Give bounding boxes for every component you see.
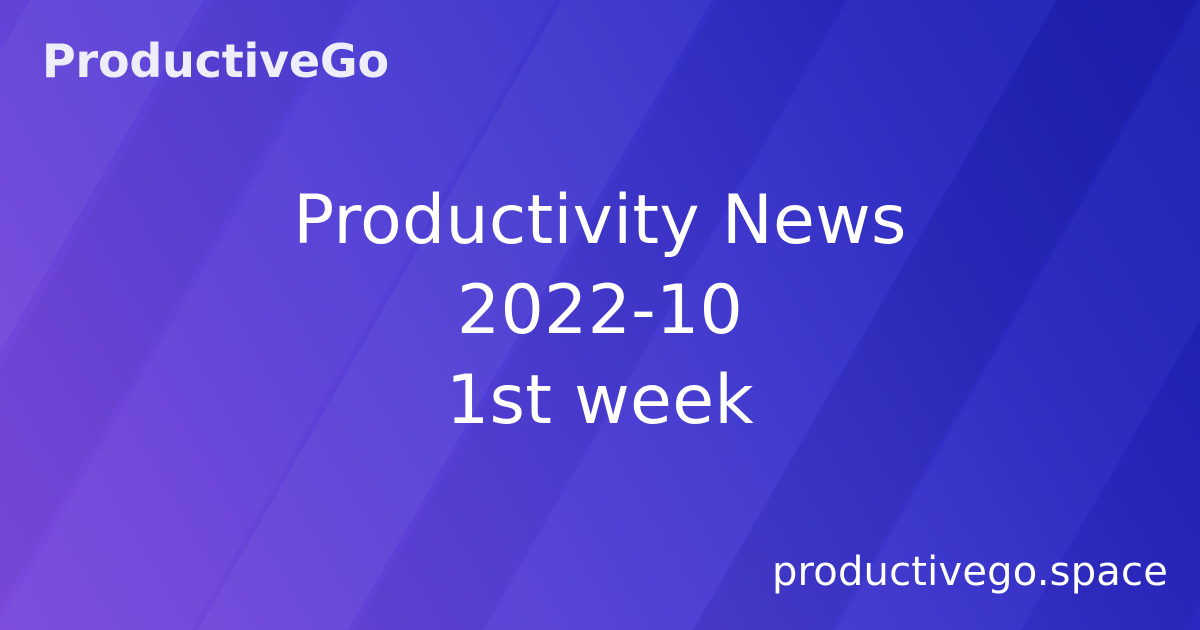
site-url-label: productivego.space	[772, 550, 1168, 594]
page-title-line-3: 1st week	[0, 356, 1200, 446]
og-banner-card: ProductiveGo Productivity News 2022-10 1…	[0, 0, 1200, 630]
page-title-line-2: 2022-10	[0, 266, 1200, 356]
brand-logo: ProductiveGo	[42, 38, 389, 84]
page-title: Productivity News 2022-10 1st week	[0, 176, 1200, 446]
page-title-line-1: Productivity News	[0, 176, 1200, 266]
